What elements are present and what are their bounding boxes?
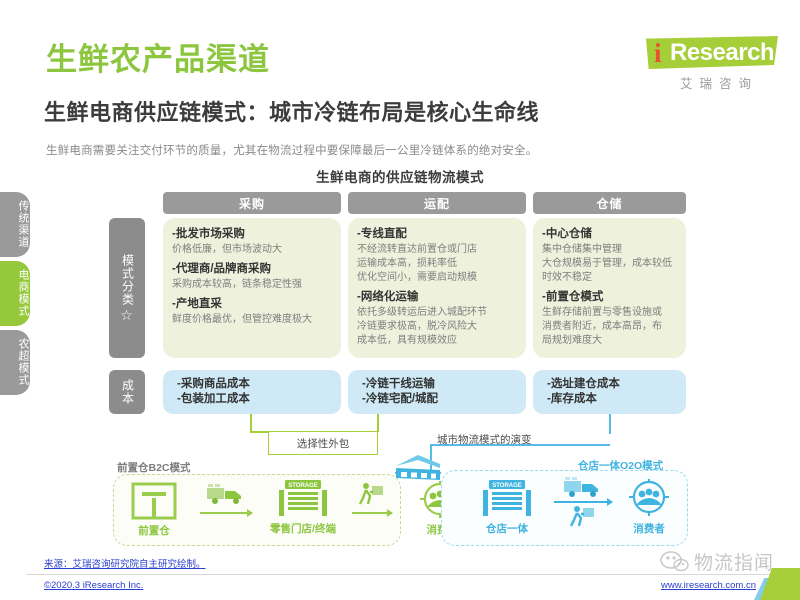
watermark: 物流指闻 xyxy=(659,548,774,575)
storage-building-icon: STORAGE xyxy=(481,478,533,518)
row-label-mode-classification: 模式分类 ☆ xyxy=(109,218,145,358)
watermark-text: 物流指闻 xyxy=(694,548,774,575)
courier-icon xyxy=(568,505,598,527)
mode-body-line: 不经流转直达前置仓或门店 xyxy=(357,243,517,257)
mode-body: 生鲜存储前置与零售设施或 消费者附近，成本高昂，布 局规划难度大 xyxy=(542,306,677,348)
connector-line-warehouse xyxy=(609,414,611,434)
connector-line-transport xyxy=(377,414,379,432)
mode-card-procurement: -批发市场采购 价格低廉，但市场波动大 -代理商/品牌商采购 采购成本较高，链条… xyxy=(163,218,341,358)
mode-body: 集中仓储集中管理 大仓规模易于管理，成本较低 时效不稳定 xyxy=(542,243,677,285)
connector-line-procurement xyxy=(250,414,252,432)
flow-node-front-warehouse: 前置仓 xyxy=(123,482,185,538)
consumers-circle-icon xyxy=(627,478,671,518)
mode-body-line: 生鲜存储前置与零售设施或 xyxy=(542,306,677,320)
logo-i-letter: i xyxy=(654,38,662,68)
mode-body-line: 优化空间小，需要启动规模 xyxy=(357,271,517,285)
logo-badge: i Research xyxy=(646,36,778,69)
page-description: 生鲜电商需要关注交付环节的质量，尤其在物流过程中要保障最后一公里冷链体系的绝对安… xyxy=(46,142,537,158)
sidebar-item-label: 农超模式 xyxy=(17,338,29,386)
flow-node-label: 消费者 xyxy=(633,521,665,536)
flow-arrow xyxy=(554,501,612,503)
star-icon: ☆ xyxy=(120,308,134,322)
mode-heading: -前置仓模式 xyxy=(542,289,677,305)
row-label-text: 模式分类 xyxy=(120,254,135,306)
column-header-transport: 运配 xyxy=(348,192,526,214)
flow-arrow xyxy=(200,512,252,514)
mode-body: 不经流转直达前置仓或门店 运输成本高，损耗率低 优化空间小，需要启动规模 xyxy=(357,243,517,285)
mode-body-line: 运输成本高，损耗率低 xyxy=(357,257,517,271)
flow-node-consumer-right: 消费者 xyxy=(620,478,678,536)
warehouse-gate-icon xyxy=(131,482,177,520)
mode-body-line: 依托多级转运后进入城配环节 xyxy=(357,306,517,320)
connector-label-city-logistics-evolution: 城市物流模式的演变 xyxy=(437,432,532,447)
row-label-cost: 成本 xyxy=(109,370,145,414)
connector-line-procurement-h xyxy=(250,431,270,433)
flow-link-truck-2 xyxy=(548,476,618,527)
sidebar-item-agri-supermarket-model[interactable]: 农超模式 xyxy=(0,330,30,395)
mode-body: 鲜度价格最优，但管控难度极大 xyxy=(172,313,332,327)
cost-line: -库存成本 xyxy=(547,392,686,407)
mode-body-line: 大仓规模易于管理，成本较低 xyxy=(542,257,677,271)
truck-icon xyxy=(563,476,603,498)
cost-line: -冷链干线运输 xyxy=(362,377,526,392)
mode-card-warehouse: -中心仓储 集中仓储集中管理 大仓规模易于管理，成本较低 时效不稳定 -前置仓模… xyxy=(533,218,686,358)
cost-line: -采购商品成本 xyxy=(177,377,341,392)
page-subtitle: 生鲜电商供应链模式：城市冷链布局是核心生命线 xyxy=(44,95,539,127)
cost-line: -包装加工成本 xyxy=(177,392,341,407)
flow-node-label: 仓店一体 xyxy=(486,521,528,536)
mode-card-transport: -专线直配 不经流转直达前置仓或门店 运输成本高，损耗率低 优化空间小，需要启动… xyxy=(348,218,526,358)
source-note: 来源：艾瑞咨询研究院自主研究绘制。 xyxy=(44,556,206,570)
cost-line: -选址建仓成本 xyxy=(547,377,686,392)
sidebar-item-label: 传统渠道 xyxy=(17,200,29,248)
mode-body-line: 时效不稳定 xyxy=(542,271,677,285)
flow-title-b2c: 前置仓B2C模式 xyxy=(117,460,191,475)
mode-heading: -中心仓储 xyxy=(542,226,677,242)
mode-body: 价格低廉，但市场波动大 xyxy=(172,243,332,257)
mode-heading: -产地直采 xyxy=(172,296,332,312)
mode-heading: -批发市场采购 xyxy=(172,226,332,242)
mode-body-line: 集中仓储集中管理 xyxy=(542,243,677,257)
cost-card-warehouse: -选址建仓成本 -库存成本 xyxy=(533,370,686,414)
wechat-icon xyxy=(659,550,689,574)
mode-body-line: 局规划难度大 xyxy=(542,334,677,348)
mode-heading: -专线直配 xyxy=(357,226,517,242)
mode-heading: -网络化运输 xyxy=(357,289,517,305)
mode-body-line: 冷链要求极高，脱冷风险大 xyxy=(357,320,517,334)
logo-chinese-name: 艾瑞咨询 xyxy=(646,73,786,92)
copyright-text: ©2020.3 iResearch Inc. xyxy=(44,580,143,591)
flow-node-label: 零售门店/终端 xyxy=(270,521,336,536)
mode-body-line: 成本低，具有规模效应 xyxy=(357,334,517,348)
sidebar: 传统渠道 电商模式 农超模式 xyxy=(0,192,30,395)
flow-node-label: 前置仓 xyxy=(138,523,170,538)
website-link[interactable]: www.iresearch.com.cn xyxy=(661,580,756,591)
mode-body: 采购成本较高，链条稳定性强 xyxy=(172,278,332,292)
logo-wordmark: Research xyxy=(670,38,774,68)
column-header-procurement: 采购 xyxy=(163,192,341,214)
sidebar-item-traditional-channel[interactable]: 传统渠道 xyxy=(0,192,30,257)
flow-link-truck-1 xyxy=(196,482,256,514)
column-header-warehouse: 仓储 xyxy=(533,192,686,214)
row-label-text: 成本 xyxy=(120,379,135,405)
iresearch-logo: i Research 艾瑞咨询 xyxy=(646,36,786,90)
sidebar-item-ecommerce-model[interactable]: 电商模式 xyxy=(0,261,30,326)
svg-text:STORAGE: STORAGE xyxy=(288,483,318,489)
mode-body-line: 消费者附近，成本高昂，布 xyxy=(542,320,677,334)
svg-text:STORAGE: STORAGE xyxy=(492,483,522,489)
page-title: 生鲜农产品渠道 xyxy=(46,34,270,79)
cost-card-procurement: -采购商品成本 -包装加工成本 xyxy=(163,370,341,414)
flow-node-warehouse-store: STORAGE 仓店一体 xyxy=(468,478,546,536)
chart-title: 生鲜电商的供应链物流模式 xyxy=(0,166,800,186)
sidebar-item-label: 电商模式 xyxy=(17,269,29,317)
cost-card-transport: -冷链干线运输 -冷链宅配/城配 xyxy=(348,370,526,414)
truck-icon xyxy=(206,482,246,506)
mode-heading: -代理商/品牌商采购 xyxy=(172,261,332,277)
connector-label-selective-outsourcing: 选择性外包 xyxy=(268,431,378,455)
cost-line: -冷链宅配/城配 xyxy=(362,392,526,407)
mode-body: 依托多级转运后进入城配环节 冷链要求极高，脱冷风险大 成本低，具有规模效应 xyxy=(357,306,517,348)
storage-building-icon: STORAGE xyxy=(277,478,329,518)
